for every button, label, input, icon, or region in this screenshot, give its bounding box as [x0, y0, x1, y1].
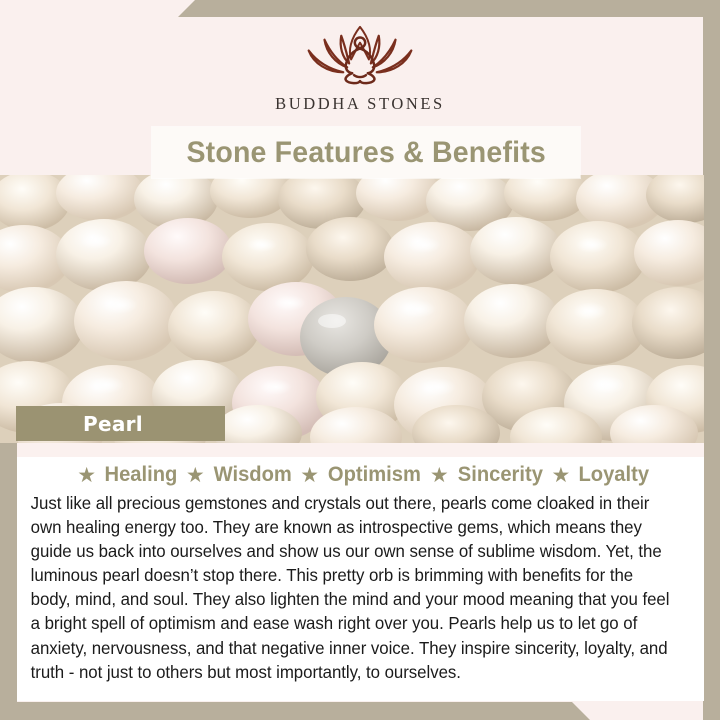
description-card: ★ Healing ★ Wisdom ★ Optimism ★ Sincerit…	[17, 443, 704, 701]
benefit-item-optimism: ★ Optimism	[293, 463, 423, 487]
star-icon: ★	[551, 465, 570, 486]
star-icon: ★	[430, 465, 449, 486]
benefit-label: Optimism	[328, 463, 421, 487]
benefit-item-healing: ★ Healing	[70, 463, 179, 487]
pearl-photo	[0, 175, 704, 443]
star-icon: ★	[77, 465, 96, 486]
infographic-page: BUDDHA STONES Stone Features & Benefits	[0, 0, 720, 720]
star-icon: ★	[186, 465, 205, 486]
brand-logo: BUDDHA STONES	[0, 18, 720, 122]
stone-name-label: Pearl	[83, 412, 143, 436]
lotus-meditation-icon	[285, 18, 435, 92]
benefit-item-wisdom: ★ Wisdom	[179, 463, 293, 487]
benefit-label: Loyalty	[579, 463, 650, 487]
benefit-label: Healing	[105, 463, 178, 487]
star-icon: ★	[300, 465, 319, 486]
pearl-photo-canvas	[0, 175, 704, 443]
description-text: Just like all precious gemstones and cry…	[17, 489, 687, 684]
benefit-label: Sincerity	[457, 463, 542, 487]
decorative-band-bottom	[0, 702, 720, 720]
brand-name: BUDDHA STONES	[275, 94, 445, 114]
benefits-list: ★ Healing ★ Wisdom ★ Optimism ★ Sincerit…	[17, 457, 704, 489]
section-title-banner: Stone Features & Benefits	[152, 127, 580, 178]
decorative-band-top	[0, 0, 720, 17]
decorative-band-left	[0, 443, 17, 720]
card-top-strip	[17, 443, 704, 457]
page-title: Stone Features & Benefits	[186, 136, 546, 170]
benefit-item-loyalty: ★ Loyalty	[544, 463, 650, 487]
benefit-label: Wisdom	[213, 463, 291, 487]
stone-name-bar: Pearl	[16, 406, 225, 441]
benefit-item-sincerity: ★ Sincerity	[423, 463, 545, 487]
